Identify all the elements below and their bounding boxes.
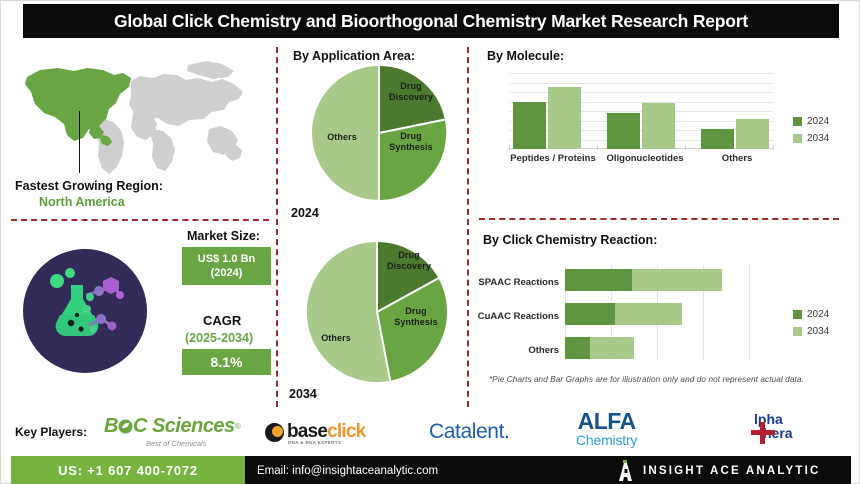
cagr-value: 8.1% (211, 354, 243, 370)
baseclick-mark-icon (265, 423, 284, 442)
boc-registered-mark: ® (235, 422, 241, 431)
market-size-label: Market Size: (187, 229, 260, 243)
insightace-logo-icon (617, 460, 634, 482)
legend-swatch-2034 (793, 327, 802, 336)
section-title-application-area: By Application Area: (293, 49, 415, 63)
legend-label-2024: 2024 (807, 116, 829, 127)
logo-boc-sciences: B C Sciences ® Best of Chemicals (104, 415, 241, 448)
footer-brand: INSIGHT ACE ANALYTIC (617, 460, 821, 482)
axis-tick (685, 145, 686, 150)
bar-2024-peptides-proteins (513, 102, 546, 149)
x-label-peptides-proteins: Peptides / Proteins (507, 153, 599, 164)
legend-label-2034: 2034 (807, 326, 829, 337)
bar-chart-by-reaction (565, 265, 773, 361)
cagr-label: CAGR (203, 313, 241, 328)
legend-swatch-2024 (793, 117, 802, 126)
footer-brand-text: INSIGHT ACE ANALYTIC (643, 465, 821, 477)
header-banner: Global Click Chemistry and Bioorthogonal… (23, 4, 839, 38)
page-title: Global Click Chemistry and Bioorthogonal… (114, 11, 748, 32)
y-label-others: Others (467, 345, 559, 356)
fastest-region-label: Fastest Growing Region: (15, 179, 163, 193)
legend-label-2024: 2024 (807, 309, 829, 320)
flask-icon (41, 267, 129, 355)
axis-tick (773, 145, 774, 150)
bar-chart-by-molecule (509, 73, 773, 149)
pie-2024-label-drug-synthesis: Drug Synthesis (383, 131, 439, 153)
market-size-year: (2024) (211, 266, 243, 280)
bar-2034-cuaac-reactions (615, 303, 682, 325)
bar-row-spaac-reactions (565, 269, 722, 291)
x-label-oligonucleotides: Oligonucleotides (599, 153, 691, 164)
flask-molecule-badge (23, 249, 147, 373)
legend-by-molecule: 2024 2034 (793, 116, 829, 144)
pie-2034-year: 2034 (289, 387, 317, 401)
legend-by-reaction: 2024 2034 (793, 309, 829, 337)
fastest-region-value: North America (39, 195, 125, 209)
pie-2024-label-others: Others (319, 132, 365, 143)
cagr-years: (2025-2034) (185, 331, 253, 345)
x-label-others: Others (691, 153, 783, 164)
legend-item-2034: 2034 (793, 133, 829, 144)
divider-horizontal-right (479, 218, 839, 220)
bar-2024-others (701, 129, 734, 149)
market-size-value: US$ 1.0 Bn (198, 252, 255, 266)
footer-phone: US: +1 607 400-7072 (58, 463, 198, 478)
bar-2024-spaac-reactions (565, 269, 632, 291)
pie-2024-year: 2024 (291, 206, 319, 220)
bar-group-oligonucleotides (603, 73, 679, 149)
footer-bar: US: +1 607 400-7072 Email: info@insighta… (1, 456, 860, 484)
bar-group-peptides-proteins (509, 73, 585, 149)
pie-2034-label-drug-synthesis: Drug Synthesis (387, 306, 445, 328)
cagr-box: 8.1% (182, 349, 271, 375)
pie-2034-label-drug-discovery: Drug Discovery (381, 250, 437, 272)
legend-item-2024: 2024 (793, 116, 829, 127)
section-title-molecule: By Molecule: (487, 49, 564, 63)
bar-2034-peptides-proteins (548, 87, 581, 149)
legend-swatch-2024 (793, 310, 802, 319)
world-map (13, 51, 268, 176)
legend-item-2034: 2034 (793, 326, 829, 337)
alfa-text-top: ALFA (578, 410, 636, 432)
bar-2034-others (736, 119, 769, 149)
alphathera-cross-icon (751, 422, 777, 444)
bar-2024-oligonucleotides (607, 113, 640, 149)
y-label-spaac-reactions: SPAAC Reactions (467, 277, 559, 288)
bar-row-cuaac-reactions (565, 303, 682, 325)
axis-tick (509, 145, 510, 150)
market-size-box: US$ 1.0 Bn (2024) (182, 247, 271, 285)
divider-horizontal-left (11, 219, 269, 221)
catalent-text: Catalent. (429, 420, 509, 444)
y-label-cuaac-reactions: CuAAC Reactions (467, 311, 559, 322)
bar-group-others (697, 73, 773, 149)
bar-2034-others (590, 337, 634, 359)
bar-2024-cuaac-reactions (565, 303, 615, 325)
boc-tagline: Best of Chemicals (146, 439, 206, 448)
logo-baseclick: base click DNA & RNA EXPERTS (265, 421, 365, 443)
bar-2034-spaac-reactions (632, 269, 722, 291)
key-players-label: Key Players: (15, 425, 87, 439)
footer-info-block: Email: info@insightaceanalytic.com INSIG… (245, 456, 851, 484)
infographic-page: Global Click Chemistry and Bioorthogonal… (0, 0, 860, 484)
gridline (749, 265, 750, 361)
map-pointer-line (79, 111, 80, 173)
boc-text-sciences: C Sciences (133, 415, 235, 438)
pie-2024-label-drug-discovery: Drug Discovery (383, 81, 439, 103)
boc-text-b: B (104, 415, 118, 438)
logo-alphathera: lpha hera (745, 412, 793, 441)
axis-tick (597, 145, 598, 150)
legend-item-2024: 2024 (793, 309, 829, 320)
legend-label-2034: 2034 (807, 133, 829, 144)
logo-catalent: Catalent. (429, 420, 509, 444)
boc-leaf-icon (118, 419, 133, 434)
logo-alfa-chemistry: ALFA Chemistry (576, 410, 637, 448)
alfa-text-bottom: Chemistry (576, 432, 637, 448)
section-title-reaction: By Click Chemistry Reaction: (483, 233, 657, 247)
legend-swatch-2034 (793, 134, 802, 143)
baseclick-tagline: DNA & RNA EXPERTS (288, 440, 341, 445)
chart-disclaimer-note: *Pie Charts and Bar Graphs are for illus… (489, 375, 804, 384)
bar-row-others (565, 337, 634, 359)
divider-vertical-left (276, 47, 278, 407)
footer-phone-block: US: +1 607 400-7072 (11, 456, 245, 484)
pie-2034-label-others: Others (313, 333, 359, 344)
bar-2034-oligonucleotides (642, 103, 675, 149)
footer-email: Email: info@insightaceanalytic.com (257, 465, 438, 477)
bar-2024-others (565, 337, 590, 359)
